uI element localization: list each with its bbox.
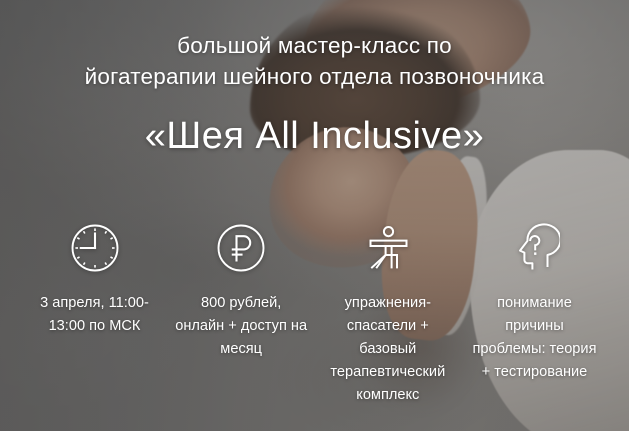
feature-text-exercises: упражнения-спасатели + базовый терапевти… xyxy=(321,292,454,407)
promo-banner: большой мастер-класс по йогатерапии шейн… xyxy=(0,0,629,431)
banner-title: «Шея All Inclusive» xyxy=(0,112,629,160)
feature-item-price: 800 рублей, онлайн + доступ на месяц xyxy=(175,222,308,361)
feature-text-schedule: 3 апреля, 11:00-13:00 по МСК xyxy=(28,292,161,338)
banner-headline: большой мастер-класс по йогатерапии шейн… xyxy=(0,30,629,92)
head-question-icon xyxy=(508,222,560,274)
feature-text-theory: понимание причины проблемы: теория + тес… xyxy=(468,292,601,384)
feature-item-exercises: упражнения-спасатели + базовый терапевти… xyxy=(321,222,454,407)
ruble-coin-icon xyxy=(215,222,267,274)
clock-icon xyxy=(69,222,121,274)
banner-content: большой мастер-класс по йогатерапии шейн… xyxy=(0,0,629,431)
feature-item-schedule: 3 апреля, 11:00-13:00 по МСК xyxy=(28,222,161,338)
feature-list: 3 апреля, 11:00-13:00 по МСК 800 рублей,… xyxy=(28,222,601,407)
headline-line-1: большой мастер-класс по xyxy=(0,30,629,61)
yoga-pose-icon xyxy=(362,222,414,274)
feature-item-theory: понимание причины проблемы: теория + тес… xyxy=(468,222,601,384)
feature-text-price: 800 рублей, онлайн + доступ на месяц xyxy=(175,292,308,361)
headline-line-2: йогатерапии шейного отдела позвоночника xyxy=(0,61,629,92)
